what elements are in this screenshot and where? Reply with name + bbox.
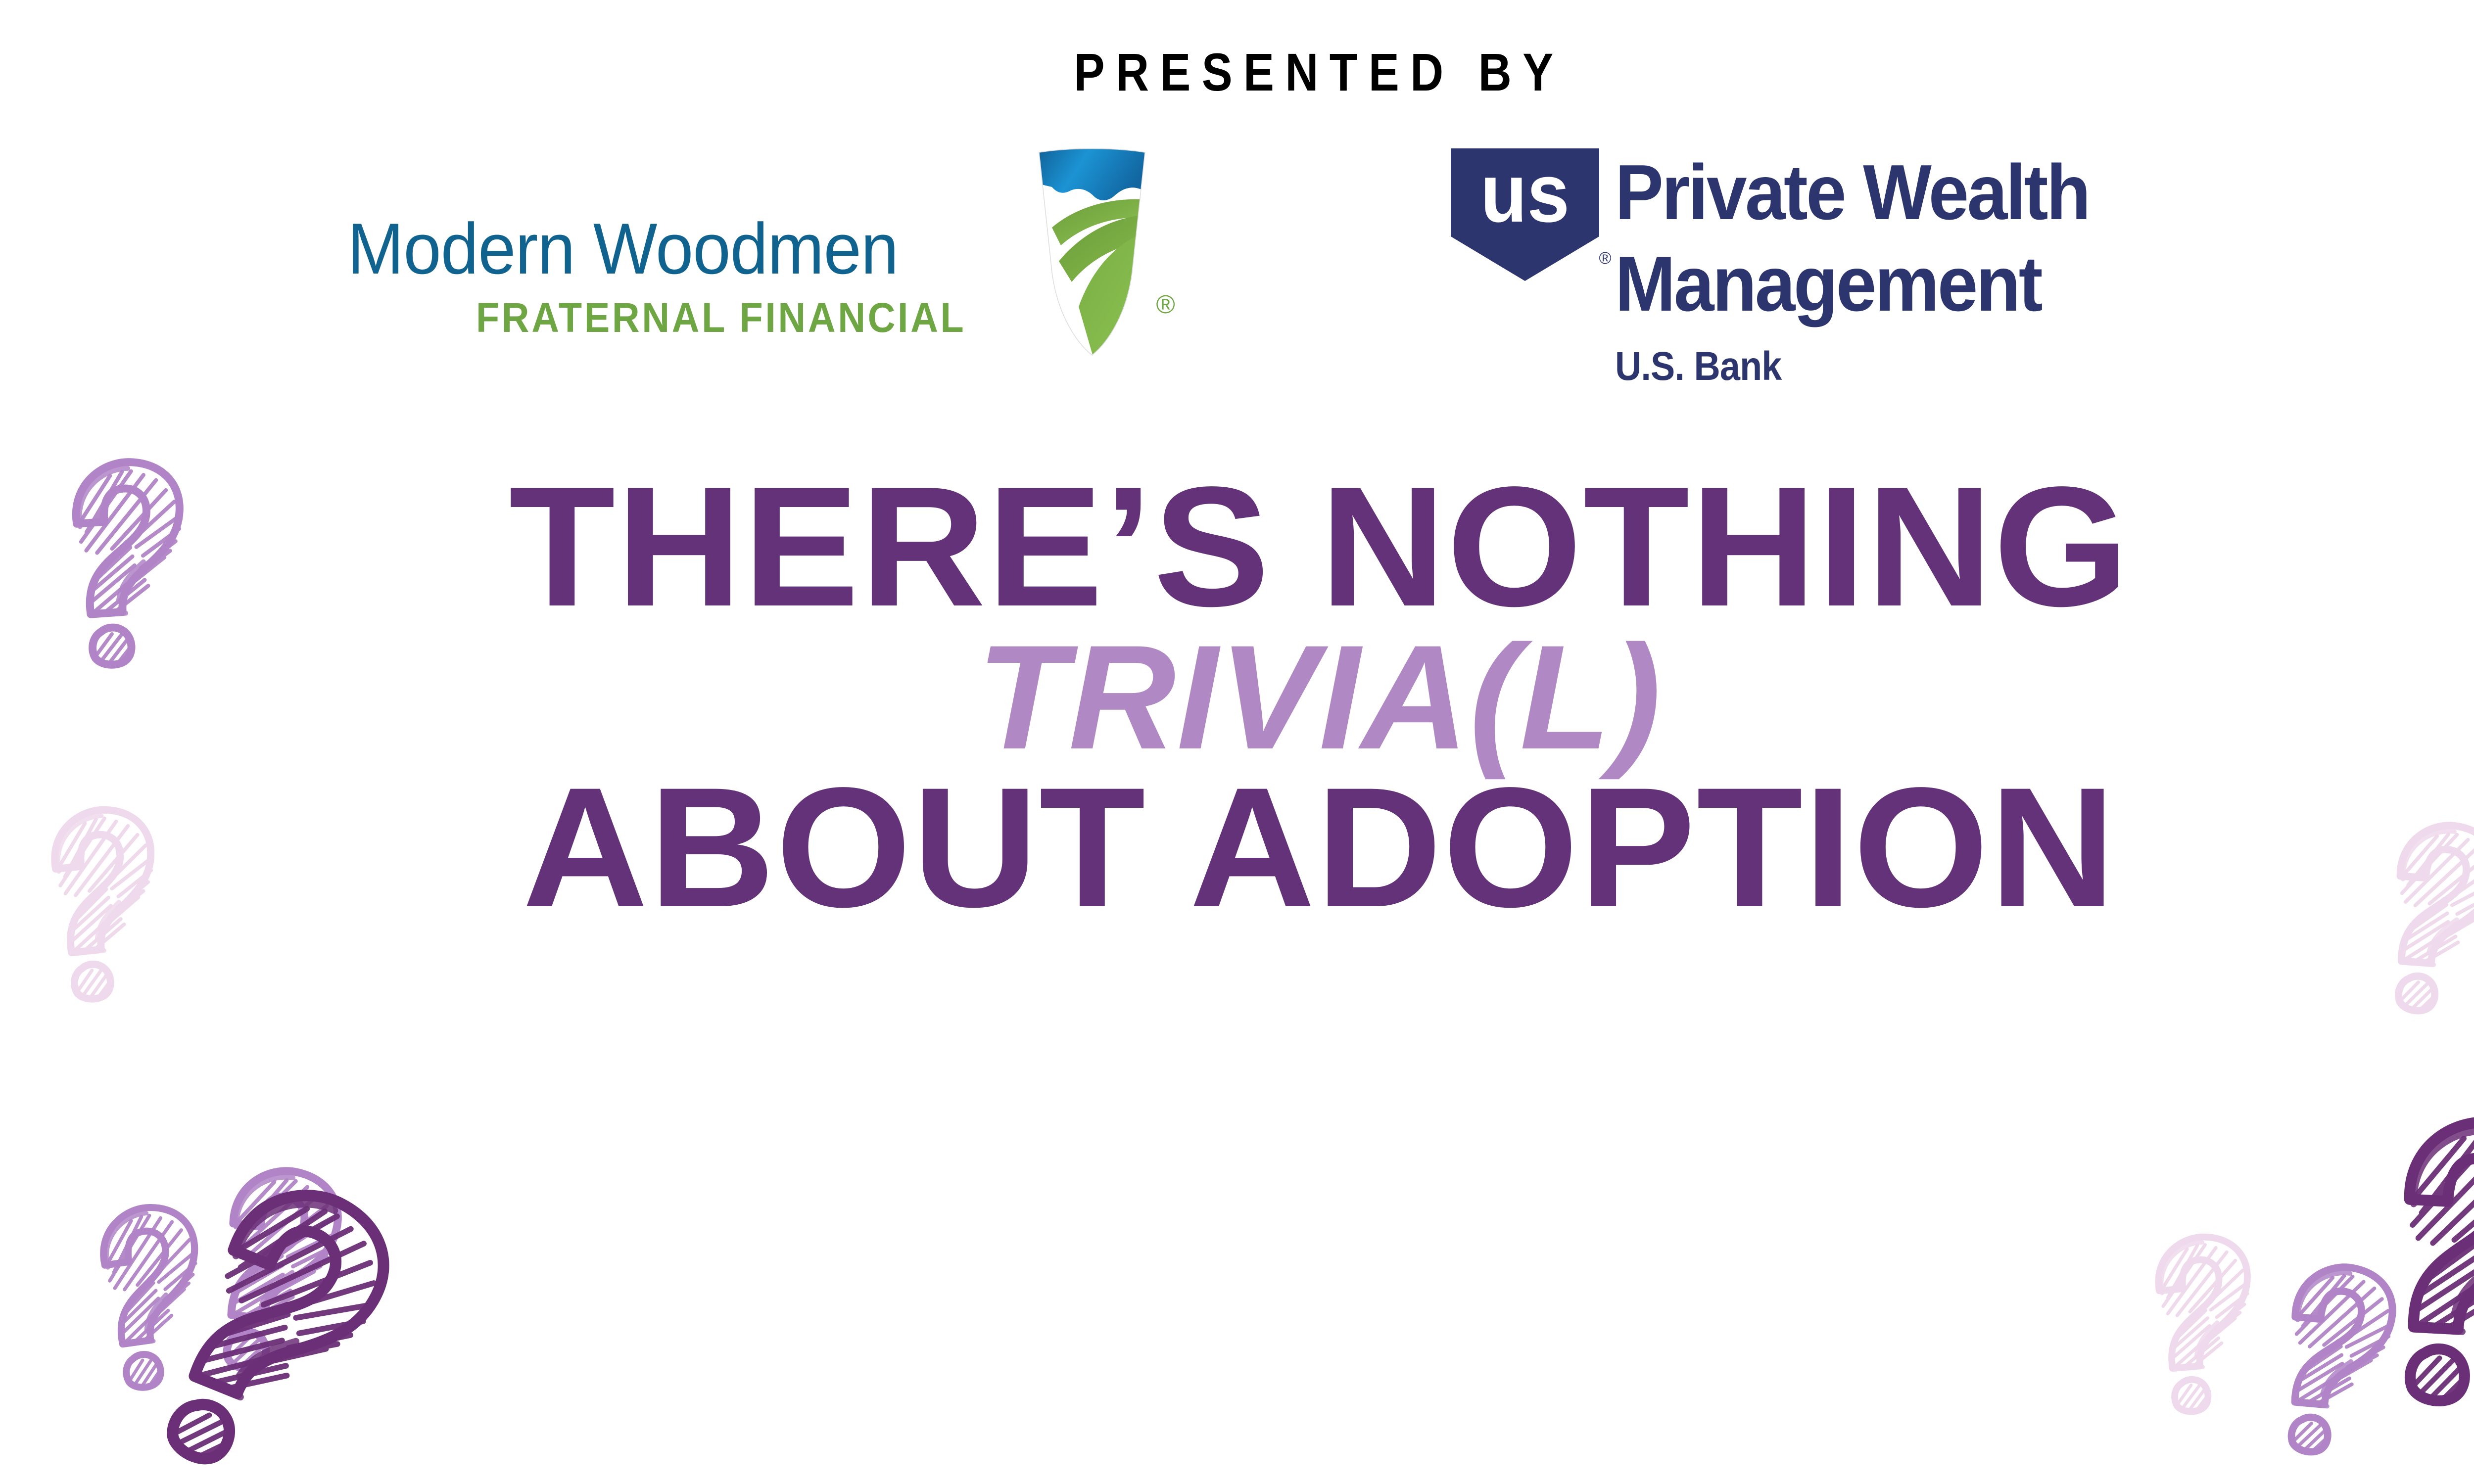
question-mark-sketch-icon bbox=[156, 1172, 403, 1484]
modern-woodmen-wordmark: Modern Woodmen bbox=[347, 213, 1045, 285]
page-title: THERE’S NOTHING TRIVIA(L) ABOUT ADOPTION bbox=[0, 460, 2474, 935]
modern-woodmen-tagline: FRATERNAL FINANCIAL bbox=[476, 297, 966, 338]
modern-woodmen-shield-icon bbox=[1035, 148, 1149, 356]
sponsor-logo-row: Modern Woodmen bbox=[0, 148, 2474, 425]
us-bank-line-1: Private Wealth bbox=[1615, 153, 2089, 232]
question-mark-sketch-icon bbox=[2399, 1118, 2474, 1406]
us-bank-private-wealth-logo: us ® Private Wealth Management U.S. Bank bbox=[1451, 148, 2292, 406]
question-mark-sketch-icon bbox=[218, 1166, 342, 1377]
question-mark-sketch-icon bbox=[97, 1202, 213, 1391]
title-line-3: ABOUT ADOPTION bbox=[0, 761, 2474, 935]
question-mark-sketch-icon bbox=[2284, 1263, 2396, 1458]
us-bank-shield-icon: us bbox=[1451, 148, 1599, 282]
title-line-1: THERE’S NOTHING bbox=[0, 460, 2474, 634]
modern-woodmen-logo: Modern Woodmen bbox=[347, 148, 1218, 376]
svg-text:us: us bbox=[1480, 148, 1569, 239]
presented-by-label: PRESENTED BY bbox=[1074, 46, 1565, 99]
modern-woodmen-registered-mark: ® bbox=[1156, 292, 1175, 318]
question-mark-sketch-icon bbox=[2155, 1233, 2259, 1413]
us-bank-line-2: Management bbox=[1615, 245, 2041, 323]
us-bank-registered-mark: ® bbox=[1599, 250, 1612, 267]
title-line-2-trivial: TRIVIA(L) bbox=[0, 621, 2474, 773]
us-bank-subtitle: U.S. Bank bbox=[1615, 346, 1781, 387]
presented-by-header: PRESENTED BY bbox=[0, 46, 2474, 99]
